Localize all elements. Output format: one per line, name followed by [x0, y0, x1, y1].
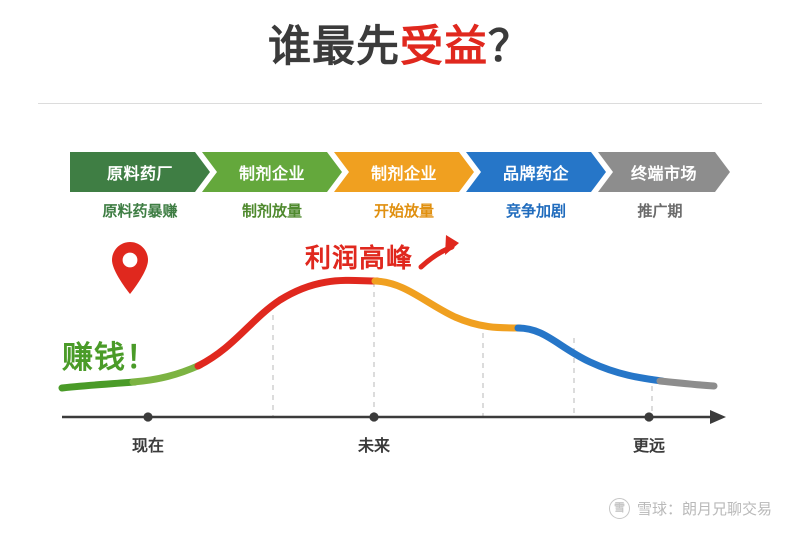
stage-chevron-band: 原料药厂 制剂企业 制剂企业 品牌药企 终端市场	[70, 152, 730, 192]
page-title: 谁最先受益？	[0, 24, 800, 71]
title-accent: 受益	[400, 23, 488, 71]
curve-segment-grey	[660, 381, 714, 386]
page-title-text: 谁最先受益？	[0, 24, 800, 71]
stage-sublabel-3: 竞争加剧	[466, 200, 606, 221]
x-tick-dot-0	[143, 412, 152, 421]
location-pin-icon	[112, 242, 148, 294]
stage-sublabel-0: 原料药暴赚	[70, 200, 210, 221]
stage-sublabel-text-2: 开始放量	[374, 203, 434, 220]
stage-chevron-0: 原料药厂	[70, 152, 210, 192]
gridlines	[273, 282, 652, 417]
peak-arrow	[421, 235, 459, 267]
x-axis-arrowhead	[710, 410, 726, 424]
stage-label-2: 制剂企业	[371, 160, 437, 184]
title-divider	[38, 103, 762, 104]
stage-sublabel-text-1: 制剂放量	[242, 203, 302, 220]
xueqiu-logo-icon: 雪	[609, 498, 630, 519]
x-axis-label-far: 更远	[609, 432, 689, 456]
curve-segment-blue	[518, 328, 662, 381]
stage-label-4: 终端市场	[631, 160, 697, 184]
stage-label-3: 品牌药企	[503, 160, 569, 184]
x-tick-dot-2	[644, 412, 653, 421]
diagram-page: 谁最先受益？ 原料药厂 制剂企业 制剂企业 品牌药企 终端市场 原料药暴赚 制剂…	[0, 0, 800, 533]
stage-chevron-1: 制剂企业	[202, 152, 342, 192]
x-tick-dot-1	[369, 412, 378, 421]
stage-sublabel-1: 制剂放量	[202, 200, 342, 221]
stage-sublabel-text-0: 原料药暴赚	[102, 203, 177, 220]
curve-segment-red	[198, 280, 377, 366]
stage-chevron-3: 品牌药企	[466, 152, 606, 192]
curve-segment-green-dark	[62, 382, 135, 388]
x-axis-label-future: 未来	[334, 432, 414, 456]
curve-segment-orange	[375, 281, 520, 328]
title-part1: 谁最先	[268, 23, 400, 71]
stage-label-0: 原料药厂	[107, 160, 173, 184]
stage-sublabel-text-4: 推广期	[637, 203, 682, 220]
stage-sublabel-2: 开始放量	[334, 200, 474, 221]
watermark-text: 雪球：朗月兄聊交易	[637, 498, 772, 519]
title-part3: ？	[488, 23, 532, 71]
stage-label-1: 制剂企业	[239, 160, 305, 184]
x-axis-label-now: 现在	[108, 432, 188, 456]
stage-sublabel-text-3: 竞争加剧	[506, 203, 566, 220]
stage-chevron-4: 终端市场	[598, 152, 730, 192]
watermark: 雪 雪球：朗月兄聊交易	[609, 498, 772, 519]
money-callout-label: 赚钱！	[62, 332, 158, 377]
profit-curve	[62, 280, 714, 388]
peak-callout-label: 利润高峰	[305, 238, 413, 275]
stage-chevron-2: 制剂企业	[334, 152, 474, 192]
stage-sublabel-4: 推广期	[594, 200, 726, 221]
